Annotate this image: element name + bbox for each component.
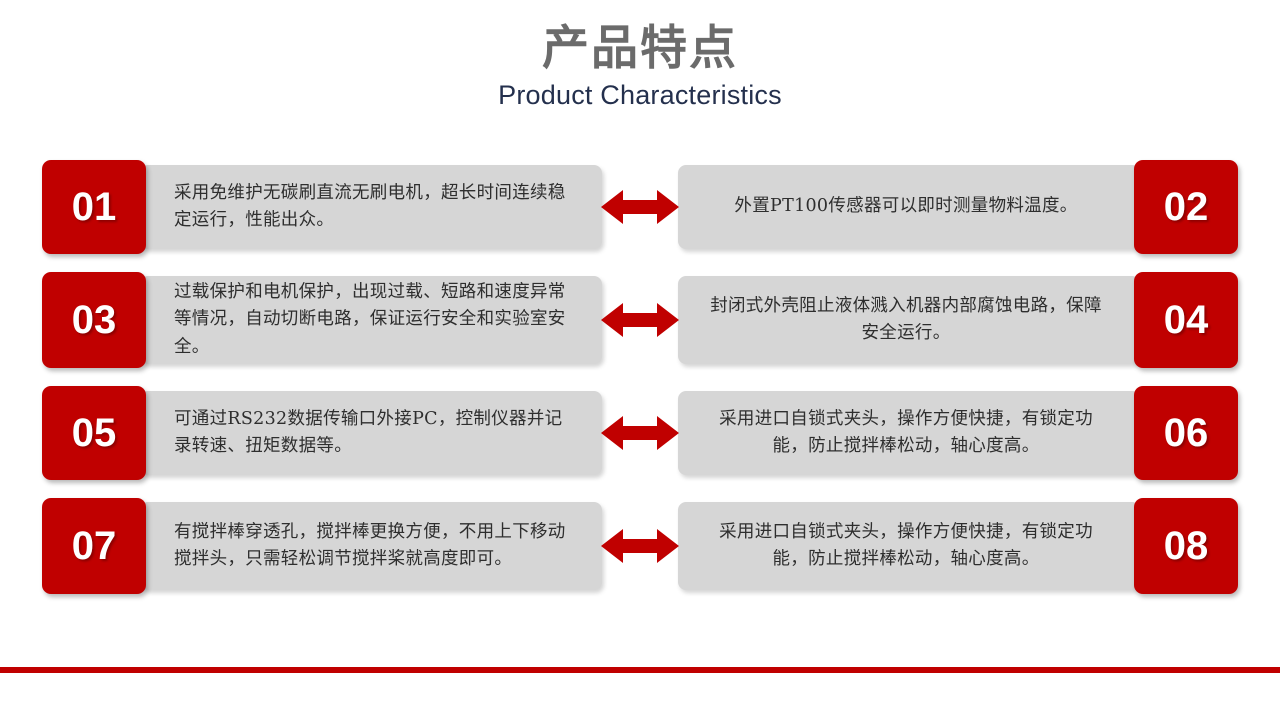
feature-text: 可通过RS232数据传输口外接PC，控制仪器并记录转速、扭矩数据等。 bbox=[174, 406, 574, 460]
feature-text-panel: 采用免维护无碳刷直流无刷电机，超长时间连续稳定运行，性能出众。 bbox=[140, 165, 602, 249]
feature-card-left[interactable]: 07 有搅拌棒穿透孔，搅拌棒更换方便，不用上下移动搅拌头，只需轻松调节搅拌桨就高… bbox=[42, 498, 602, 594]
feature-text: 采用免维护无碳刷直流无刷电机，超长时间连续稳定运行，性能出众。 bbox=[174, 180, 574, 234]
feature-card-right[interactable]: 封闭式外壳阻止液体溅入机器内部腐蚀电路，保障安全运行。 04 bbox=[678, 272, 1238, 368]
feature-card-right[interactable]: 采用进口自锁式夹头，操作方便快捷，有锁定功能，防止搅拌棒松动，轴心度高。 06 bbox=[678, 386, 1238, 480]
feature-text-panel: 封闭式外壳阻止液体溅入机器内部腐蚀电路，保障安全运行。 bbox=[678, 276, 1140, 364]
slide-header: 产品特点 Product Characteristics bbox=[0, 0, 1280, 150]
feature-text: 采用进口自锁式夹头，操作方便快捷，有锁定功能，防止搅拌棒松动，轴心度高。 bbox=[706, 519, 1106, 573]
feature-text-panel: 采用进口自锁式夹头，操作方便快捷，有锁定功能，防止搅拌棒松动，轴心度高。 bbox=[678, 502, 1140, 590]
feature-number-badge: 05 bbox=[42, 386, 146, 480]
page-title: 产品特点 bbox=[0, 0, 1280, 76]
feature-row: 03 过载保护和电机保护，出现过载、短路和速度异常等情况，自动切断电路，保证运行… bbox=[0, 272, 1280, 368]
feature-list: 01 采用免维护无碳刷直流无刷电机，超长时间连续稳定运行，性能出众。 外置PT1… bbox=[0, 160, 1280, 612]
feature-text-panel: 有搅拌棒穿透孔，搅拌棒更换方便，不用上下移动搅拌头，只需轻松调节搅拌桨就高度即可… bbox=[140, 502, 602, 590]
feature-text-panel: 采用进口自锁式夹头，操作方便快捷，有锁定功能，防止搅拌棒松动，轴心度高。 bbox=[678, 391, 1140, 475]
feature-text-panel: 外置PT100传感器可以即时测量物料温度。 bbox=[678, 165, 1140, 249]
feature-number-badge: 07 bbox=[42, 498, 146, 594]
feature-text-panel: 过载保护和电机保护，出现过载、短路和速度异常等情况，自动切断电路，保证运行安全和… bbox=[140, 276, 602, 364]
feature-text-panel: 可通过RS232数据传输口外接PC，控制仪器并记录转速、扭矩数据等。 bbox=[140, 391, 602, 475]
feature-text: 有搅拌棒穿透孔，搅拌棒更换方便，不用上下移动搅拌头，只需轻松调节搅拌桨就高度即可… bbox=[174, 519, 574, 573]
feature-number-badge: 03 bbox=[42, 272, 146, 368]
feature-card-left[interactable]: 05 可通过RS232数据传输口外接PC，控制仪器并记录转速、扭矩数据等。 bbox=[42, 386, 602, 480]
footer-divider bbox=[0, 667, 1280, 673]
double-arrow-icon bbox=[600, 526, 680, 566]
feature-row: 05 可通过RS232数据传输口外接PC，控制仪器并记录转速、扭矩数据等。 采用… bbox=[0, 386, 1280, 480]
feature-card-left[interactable]: 03 过载保护和电机保护，出现过载、短路和速度异常等情况，自动切断电路，保证运行… bbox=[42, 272, 602, 368]
feature-number-badge: 01 bbox=[42, 160, 146, 254]
double-arrow-icon bbox=[600, 300, 680, 340]
feature-number-badge: 06 bbox=[1134, 386, 1238, 480]
feature-text: 外置PT100传感器可以即时测量物料温度。 bbox=[734, 193, 1077, 220]
feature-number-badge: 02 bbox=[1134, 160, 1238, 254]
feature-number-badge: 08 bbox=[1134, 498, 1238, 594]
feature-text: 封闭式外壳阻止液体溅入机器内部腐蚀电路，保障安全运行。 bbox=[706, 293, 1106, 347]
feature-card-left[interactable]: 01 采用免维护无碳刷直流无刷电机，超长时间连续稳定运行，性能出众。 bbox=[42, 160, 602, 254]
feature-text: 采用进口自锁式夹头，操作方便快捷，有锁定功能，防止搅拌棒松动，轴心度高。 bbox=[706, 406, 1106, 460]
feature-row: 01 采用免维护无碳刷直流无刷电机，超长时间连续稳定运行，性能出众。 外置PT1… bbox=[0, 160, 1280, 254]
page-subtitle: Product Characteristics bbox=[0, 76, 1280, 111]
double-arrow-icon bbox=[600, 413, 680, 453]
feature-number-badge: 04 bbox=[1134, 272, 1238, 368]
double-arrow-icon bbox=[600, 187, 680, 227]
feature-row: 07 有搅拌棒穿透孔，搅拌棒更换方便，不用上下移动搅拌头，只需轻松调节搅拌桨就高… bbox=[0, 498, 1280, 594]
feature-text: 过载保护和电机保护，出现过载、短路和速度异常等情况，自动切断电路，保证运行安全和… bbox=[174, 279, 574, 360]
feature-card-right[interactable]: 外置PT100传感器可以即时测量物料温度。 02 bbox=[678, 160, 1238, 254]
feature-card-right[interactable]: 采用进口自锁式夹头，操作方便快捷，有锁定功能，防止搅拌棒松动，轴心度高。 08 bbox=[678, 498, 1238, 594]
